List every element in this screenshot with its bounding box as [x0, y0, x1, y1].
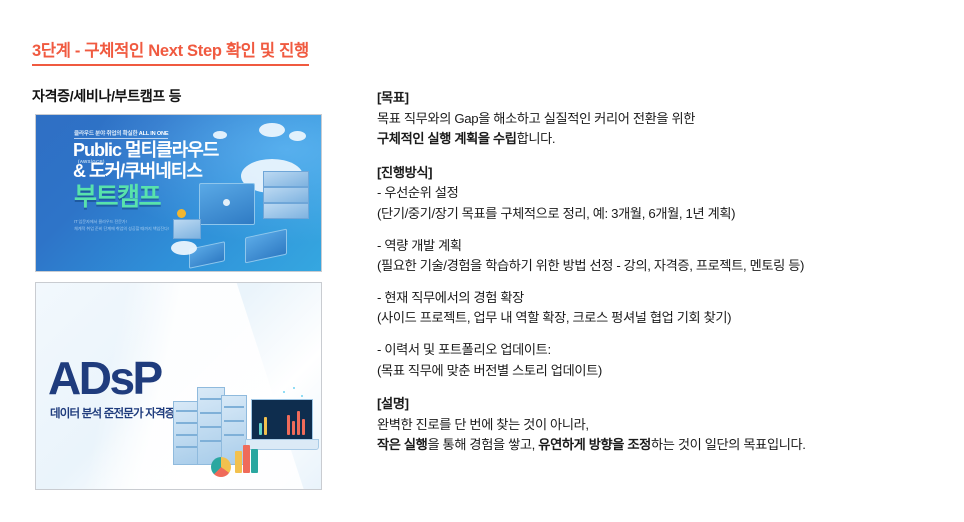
banner-fine-print: IT 입문자에서 클라우드 전문가! 체계적 취업 준비 단계에 취업의 성공할… [74, 219, 169, 232]
explain-block: [설명] 완벽한 진로를 단 번에 찾는 것이 아니라, 작은 실행을 통해 경… [377, 394, 937, 456]
method-heading: [진행방식] [377, 163, 937, 184]
method-item: - 우선순위 설정 (단기/중기/장기 목표를 구체적으로 정리, 예: 3개월… [377, 183, 937, 224]
method-item-detail: (사이드 프로젝트, 업무 내 역할 확장, 크로스 펑셔널 협업 기회 찾기) [377, 308, 937, 329]
data-analytics-illustration [167, 373, 317, 483]
cloud-illustration [171, 115, 321, 272]
method-item: - 이력서 및 포트폴리오 업데이트: (목표 직무에 맞춘 버전별 스토리 업… [377, 340, 937, 381]
adsp-title: ADsP [48, 355, 161, 401]
left-column-title: 자격증/세비나/부트캠프 등 [32, 88, 332, 105]
method-item-bullet: - 우선순위 설정 [377, 183, 937, 204]
banner-fine-print-line-1: IT 입문자에서 클라우드 전문가! [74, 219, 169, 226]
method-item-bullet: - 역량 개발 계획 [377, 236, 937, 257]
explain-line-1: 완벽한 진로를 단 번에 찾는 것이 아니라, [377, 415, 937, 436]
method-item-detail: (목표 직무에 맞춘 버전별 스토리 업데이트) [377, 361, 937, 382]
page-title: 3단계 - 구체적인 Next Step 확인 및 진행 [32, 42, 309, 66]
goal-heading: [목표] [377, 88, 937, 109]
right-column: [목표] 목표 직무와의 Gap을 해소하고 실질적인 커리어 전환을 위한 구… [377, 88, 937, 456]
banner-line-2: & 도커/쿠버네티스 [73, 162, 202, 180]
explain-line-2: 작은 실행을 통해 경험을 쌓고, 유연하게 방향을 조정하는 것이 일단의 목… [377, 435, 937, 456]
goal-line-2: 구체적인 실행 계획을 수립합니다. [377, 129, 937, 150]
adsp-certificate-image: ADsP 데이터 분석 준전문가 자격증 [35, 282, 322, 490]
method-item-detail: (단기/중기/장기 목표를 구체적으로 정리, 예: 3개월, 6개월, 1년 … [377, 204, 937, 225]
explain-heading: [설명] [377, 394, 937, 415]
banner-line-3-bootcamp: 부트캠프 [74, 185, 160, 210]
goal-line-1: 목표 직무와의 Gap을 해소하고 실질적인 커리어 전환을 위한 [377, 109, 937, 130]
method-item: - 현재 직무에서의 경험 확장 (사이드 프로젝트, 업무 내 역할 확장, … [377, 288, 937, 329]
method-item-bullet: - 현재 직무에서의 경험 확장 [377, 288, 937, 309]
banner-tagline: 클라우드 분야 취업의 확실한 ALL IN ONE [74, 129, 168, 139]
adsp-subtitle: 데이터 분석 준전문가 자격증 [50, 405, 175, 421]
goal-block: [목표] 목표 직무와의 Gap을 해소하고 실질적인 커리어 전환을 위한 구… [377, 88, 937, 150]
method-item-detail: (필요한 기술/경험을 학습하기 위한 방법 선정 - 강의, 자격증, 프로젝… [377, 256, 937, 277]
slide-canvas: 3단계 - 구체적인 Next Step 확인 및 진행 자격증/세비나/부트캠… [0, 0, 964, 522]
method-block: [진행방식] - 우선순위 설정 (단기/중기/장기 목표를 구체적으로 정리,… [377, 163, 937, 381]
method-item: - 역량 개발 계획 (필요한 기술/경험을 학습하기 위한 방법 선정 - 강… [377, 236, 937, 277]
banner-fine-print-line-2: 체계적 취업 준비 단계에 취업의 성공할 때까지 책임진다! [74, 226, 169, 233]
method-item-bullet: - 이력서 및 포트폴리오 업데이트: [377, 340, 937, 361]
left-column: 자격증/세비나/부트캠프 등 [32, 88, 332, 117]
bootcamp-banner-image: 클라우드 분야 취업의 확실한 ALL IN ONE Public 멀티클라우드… [35, 114, 322, 272]
banner-line-1: Public 멀티클라우드 [73, 141, 218, 159]
